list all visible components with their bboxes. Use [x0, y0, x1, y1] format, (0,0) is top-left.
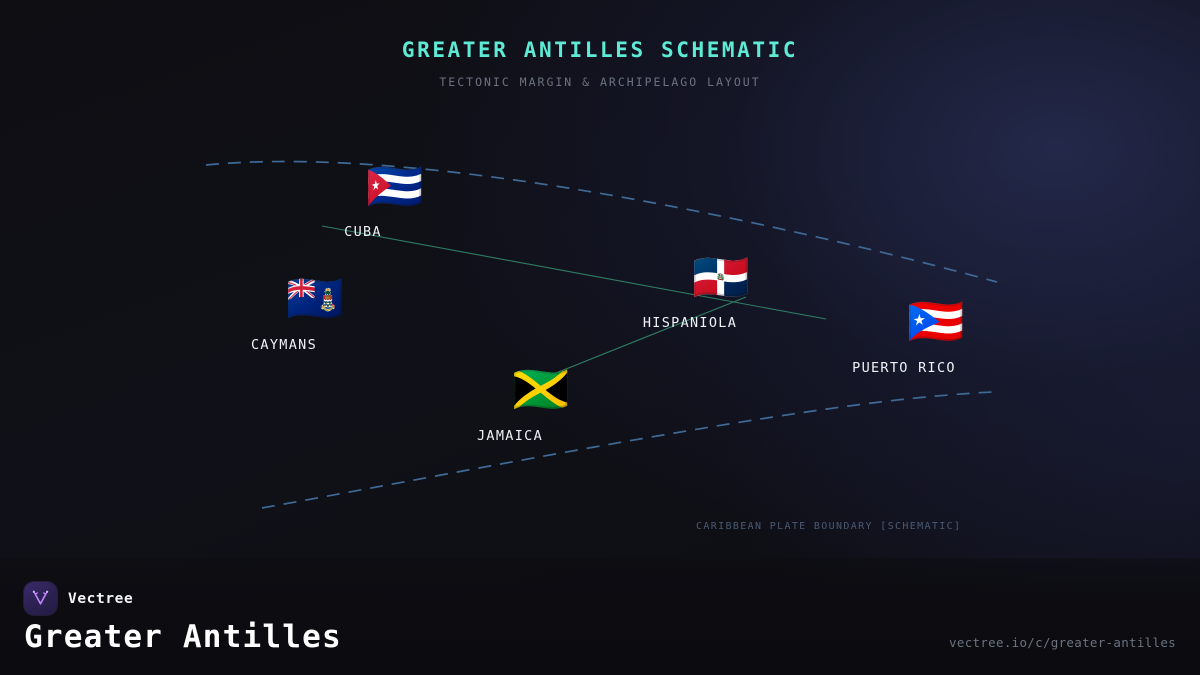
vectree-glyph-icon: [30, 588, 51, 609]
island-label-caymans: CAYMANS: [251, 337, 317, 353]
island-label-jamaica: JAMAICA: [477, 428, 543, 444]
flag-icon-jamaica: 🇯🇲: [512, 366, 569, 412]
brand-row[interactable]: Vectree: [24, 582, 133, 615]
footer-page-title: Greater Antilles: [24, 619, 342, 655]
southern-boundary: [262, 392, 993, 508]
arc-cuba-puertorico: [322, 226, 826, 319]
flag-icon-hispaniola: 🇩🇴: [692, 254, 749, 300]
footer: Vectree Greater Antilles vectree.io/c/gr…: [0, 558, 1200, 675]
plate-boundary-group: [206, 161, 997, 508]
arc-jamaica-branch: [541, 297, 746, 379]
island-label-hispaniola: HISPANIOLA: [643, 315, 737, 331]
island-label-cuba: CUBA: [344, 224, 382, 240]
flag-icon-puerto-rico: 🇵🇷: [907, 298, 964, 344]
island-arc-group: [322, 226, 826, 379]
schematic-canvas: GREATER ANTILLES SCHEMATIC TECTONIC MARG…: [0, 0, 1200, 675]
island-label-puerto-rico: PUERTO RICO: [852, 360, 956, 376]
flag-icon-caymans: 🇰🇾: [286, 275, 343, 321]
vectree-logo-icon: [24, 582, 57, 615]
boundary-caption: CARIBBEAN PLATE BOUNDARY [SCHEMATIC]: [696, 521, 961, 532]
brand-name: Vectree: [68, 591, 133, 607]
footer-url: vectree.io/c/greater-antilles: [949, 635, 1176, 650]
flag-icon-cuba: 🇨🇺: [366, 163, 423, 209]
northern-boundary: [206, 161, 997, 282]
